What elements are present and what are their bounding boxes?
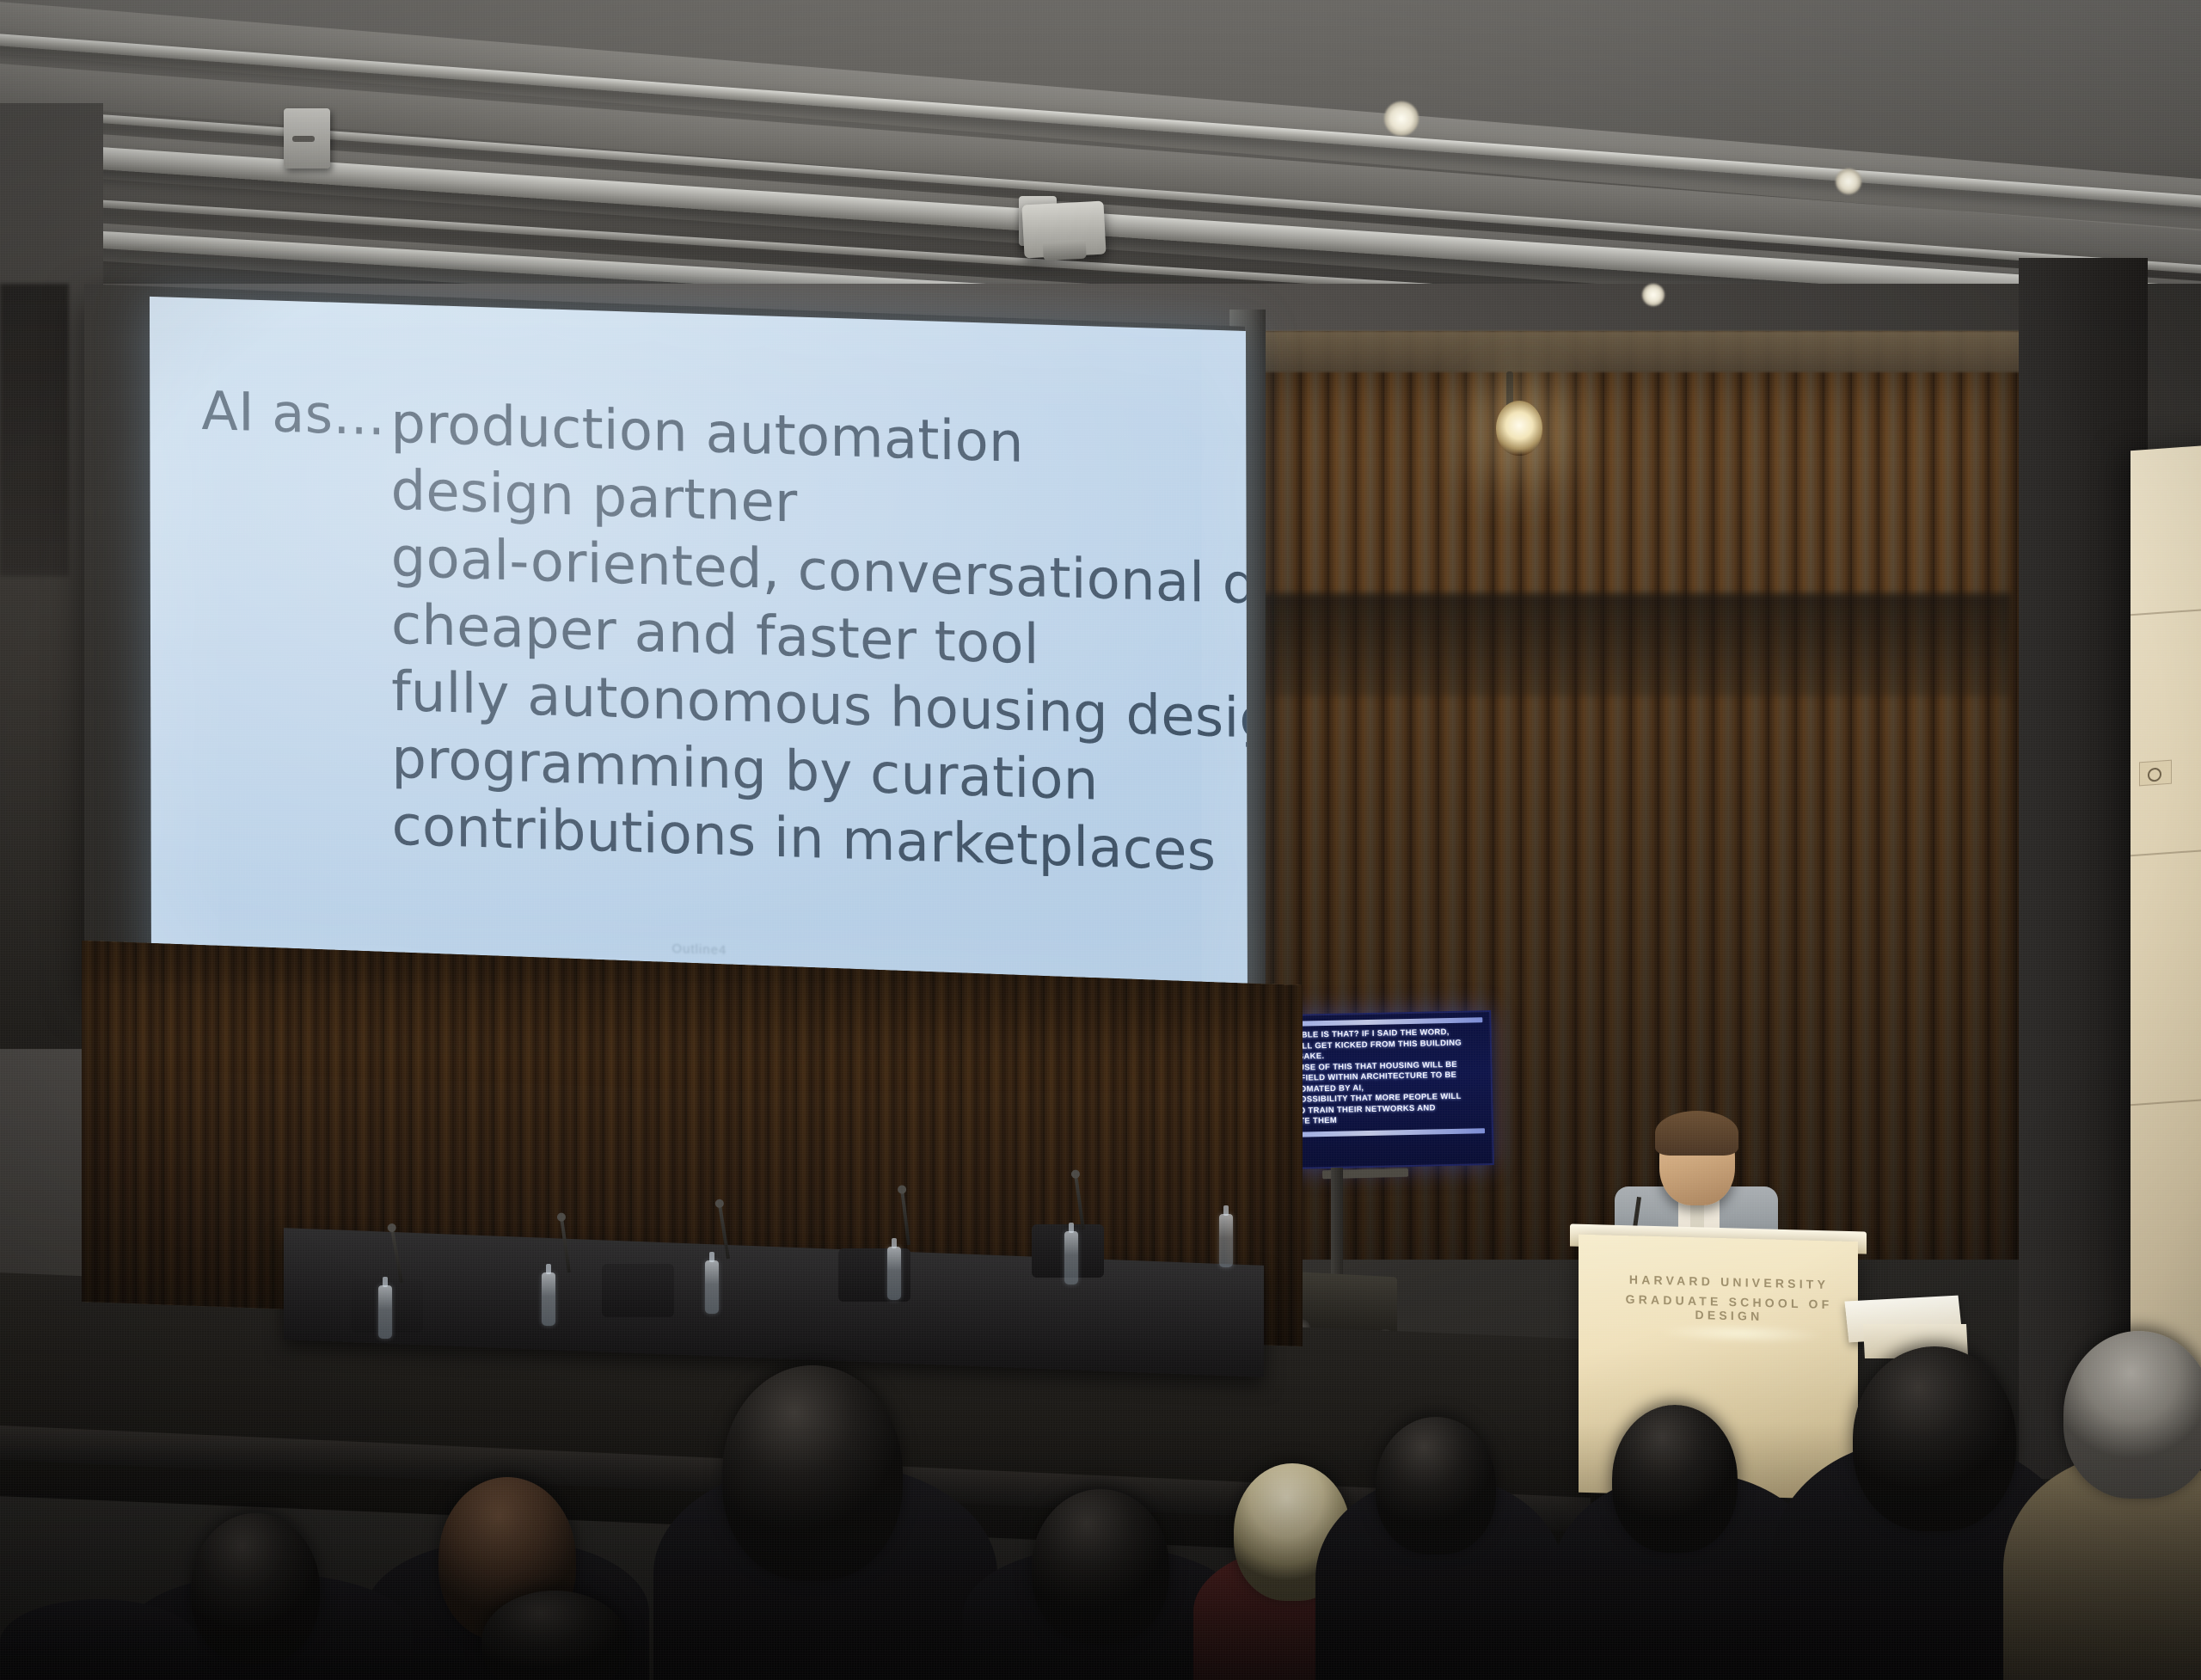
recessed-ceiling-light-a bbox=[1384, 101, 1419, 136]
slide-bullet-list: production automation design partner goa… bbox=[390, 390, 1248, 892]
recessed-ceiling-light-c bbox=[1642, 284, 1665, 306]
projection-screen: AI as... production automation design pa… bbox=[150, 297, 1248, 1019]
audience-shoulders bbox=[0, 1599, 198, 1680]
water-bottle bbox=[887, 1247, 901, 1300]
curtain-valance bbox=[1247, 331, 2020, 372]
audience-head bbox=[2063, 1331, 2201, 1499]
water-bottle bbox=[705, 1260, 719, 1314]
audience-head bbox=[1376, 1417, 1496, 1554]
stage-spotlight bbox=[1496, 401, 1542, 456]
podium-sign: HARVARD UNIVERSITY GRADUATE SCHOOL OF DE… bbox=[1613, 1272, 1845, 1325]
water-bottle bbox=[1219, 1214, 1233, 1267]
water-bottle bbox=[378, 1285, 392, 1339]
right-wall-panel bbox=[2130, 444, 2201, 1465]
audience-head bbox=[1612, 1405, 1738, 1553]
speaker-hair bbox=[1655, 1111, 1738, 1156]
audience-head bbox=[722, 1365, 903, 1580]
audience-head bbox=[1032, 1489, 1169, 1644]
water-bottle bbox=[1064, 1231, 1078, 1285]
audience-head bbox=[1853, 1346, 2016, 1531]
left-wall-shadow bbox=[0, 284, 69, 576]
ceiling-projector bbox=[1021, 201, 1106, 259]
panel-chair bbox=[602, 1264, 674, 1317]
wall-sign-icon bbox=[2139, 760, 2172, 787]
water-bottle bbox=[542, 1272, 555, 1326]
slide-lede: AI as... bbox=[201, 384, 390, 444]
audience-head bbox=[191, 1513, 320, 1664]
curtain-shadow-band bbox=[1255, 593, 2012, 696]
ceiling-mount-left bbox=[284, 108, 330, 169]
right-wall-dark bbox=[2019, 258, 2148, 1479]
teleprompter-stand bbox=[1331, 1168, 1343, 1279]
recessed-ceiling-light-b bbox=[1836, 169, 1861, 194]
presentation-slide: AI as... production automation design pa… bbox=[150, 297, 1248, 1019]
photo-scene: AI as... production automation design pa… bbox=[0, 0, 2201, 1680]
